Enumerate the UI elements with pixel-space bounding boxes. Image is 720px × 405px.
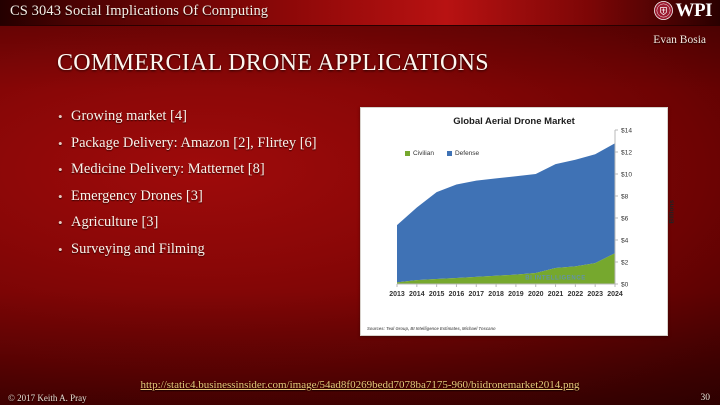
svg-text:$14: $14 <box>621 127 632 134</box>
chart-watermark: BI INTELLIGENCE <box>525 275 586 281</box>
list-item: • Emergency Drones [3] <box>58 188 348 206</box>
svg-text:2020: 2020 <box>528 291 544 298</box>
svg-text:2023: 2023 <box>587 291 603 298</box>
svg-text:2019: 2019 <box>508 291 524 298</box>
page-title: COMMERCIAL DRONE APPLICATIONS <box>57 50 489 77</box>
bullet-marker-icon: • <box>58 241 71 258</box>
svg-text:2021: 2021 <box>548 291 564 298</box>
svg-text:2018: 2018 <box>488 291 504 298</box>
bullet-list: • Growing market [4] • Package Delivery:… <box>58 108 348 267</box>
chart-sources-note: Sources: Teal Group, BI Intelligence Est… <box>367 326 496 331</box>
svg-text:$12: $12 <box>621 149 632 156</box>
svg-text:2015: 2015 <box>429 291 445 298</box>
list-item: • Package Delivery: Amazon [2], Flirtey … <box>58 135 348 153</box>
list-item: • Medicine Delivery: Matternet [8] <box>58 161 348 179</box>
bullet-text: Package Delivery: Amazon [2], Flirtey [6… <box>71 135 317 153</box>
bullet-text: Growing market [4] <box>71 108 187 126</box>
svg-text:2013: 2013 <box>389 291 405 298</box>
page-number: 30 <box>701 393 711 403</box>
bullet-marker-icon: • <box>58 108 71 125</box>
bullet-marker-icon: • <box>58 214 71 231</box>
svg-text:2024: 2024 <box>607 291 623 298</box>
bullet-text: Medicine Delivery: Matternet [8] <box>71 161 265 179</box>
svg-text:2022: 2022 <box>568 291 584 298</box>
course-title: CS 3043 Social Implications Of Computing <box>10 3 268 20</box>
chart-y-axis-label: Billions <box>668 200 675 223</box>
bullet-marker-icon: • <box>58 161 71 178</box>
bullet-text: Agriculture [3] <box>71 214 158 232</box>
svg-text:2014: 2014 <box>409 291 425 298</box>
svg-text:$0: $0 <box>621 281 629 288</box>
bullet-text: Emergency Drones [3] <box>71 188 203 206</box>
chart-y-ticks: $0$2$4$6$8$10$12$14 <box>615 127 632 288</box>
list-item: • Agriculture [3] <box>58 214 348 232</box>
wpi-logo: WPI <box>654 1 713 20</box>
chart-area-series <box>397 143 615 284</box>
wpi-wordmark: WPI <box>676 1 713 20</box>
bullet-text: Surveying and Filming <box>71 241 205 259</box>
chart-plot-area: $0$2$4$6$8$10$12$14 20132014201520162017… <box>369 124 661 312</box>
slide-footer: © 2017 Keith A. Pray 30 <box>0 387 720 405</box>
list-item: • Growing market [4] <box>58 108 348 126</box>
svg-text:$4: $4 <box>621 237 629 244</box>
svg-text:2017: 2017 <box>468 291 484 298</box>
chart-image: Global Aerial Drone Market Civilian Defe… <box>360 107 668 336</box>
svg-text:$6: $6 <box>621 215 629 222</box>
chart-svg: $0$2$4$6$8$10$12$14 20132014201520162017… <box>369 124 661 312</box>
svg-text:2016: 2016 <box>449 291 465 298</box>
svg-text:$10: $10 <box>621 171 632 178</box>
bullet-marker-icon: • <box>58 188 71 205</box>
wpi-seal-icon <box>654 1 673 20</box>
svg-text:$2: $2 <box>621 259 629 266</box>
svg-text:$8: $8 <box>621 193 629 200</box>
author-name: Evan Bosia <box>653 34 706 46</box>
list-item: • Surveying and Filming <box>58 241 348 259</box>
bullet-marker-icon: • <box>58 135 71 152</box>
slide-header-bar: CS 3043 Social Implications Of Computing… <box>0 0 720 26</box>
svg-text:BI INTELLIGENCE: BI INTELLIGENCE <box>525 275 586 281</box>
copyright-text: © 2017 Keith A. Pray <box>8 393 87 403</box>
slide-canvas: CS 3043 Social Implications Of Computing… <box>0 0 720 405</box>
chart-x-ticks: 2013201420152016201720182019202020212022… <box>389 284 623 298</box>
